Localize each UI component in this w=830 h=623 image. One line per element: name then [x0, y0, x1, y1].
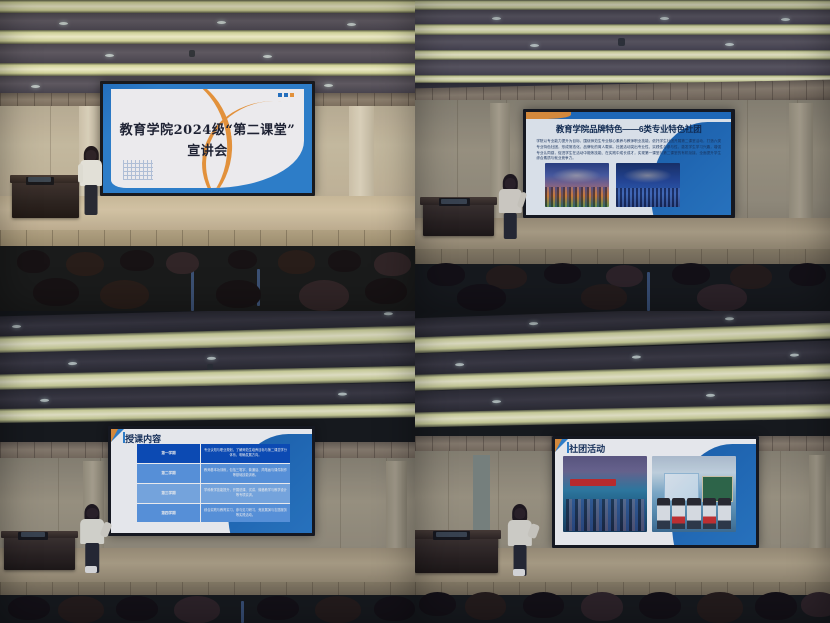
ceiling-spot-icon [492, 17, 501, 20]
ceiling-projector-icon [189, 50, 195, 57]
ceiling-spot-icon [706, 394, 715, 397]
ceiling-spot-icon [790, 354, 799, 357]
ceiling-light-strip [415, 50, 830, 60]
attendee-head [228, 250, 257, 269]
table-cell-term: 第二学期 [137, 464, 201, 483]
ceiling-spot-icon [725, 43, 734, 46]
ceiling-panel [0, 13, 415, 30]
ceiling-spot-icon [530, 322, 539, 325]
ceiling-light-strip [0, 0, 415, 13]
attendee-head [216, 280, 262, 308]
ceiling-spot-icon [31, 85, 40, 88]
red-banner [570, 479, 616, 486]
presenter [79, 146, 104, 214]
ceiling-spot-icon [324, 84, 333, 87]
attendee-head [730, 264, 772, 289]
ceiling-spot-icon [455, 363, 464, 366]
attendee-head [544, 263, 581, 284]
laptop-icon [18, 532, 48, 540]
slide-dots-decoration [278, 93, 294, 97]
ceiling-light-strip [415, 0, 830, 10]
slide-photo-1 [545, 163, 609, 206]
table-cell-term: 第四学期 [137, 504, 201, 523]
attendee-head [697, 592, 743, 623]
panel-bottom-right: 社团活动 [415, 311, 830, 623]
ceiling-spot-icon [632, 355, 641, 358]
slide-title: 社团活动 [569, 442, 605, 455]
ceiling-panel [415, 10, 830, 24]
ceiling-spot-icon [207, 357, 216, 360]
projection-screen: 教育学院2024级“第二课堂” 宣讲会 [100, 81, 316, 196]
slide-title: 教育学院品牌特色——6类专业特色社团 [534, 123, 723, 135]
slide-body-text: 学院以专业能力提升为目标，围绕师范生专业核心素养与教师职业技能，依托学生社团开展… [536, 139, 721, 161]
attendee-head [315, 596, 361, 623]
attendee-head [672, 263, 709, 285]
attendee-head [639, 592, 681, 619]
attendee-head [465, 592, 507, 620]
ceiling-spot-icon [12, 325, 21, 328]
attendee-head [365, 278, 407, 304]
podium [423, 202, 494, 236]
projection-screen: 教育学院品牌特色——6类专业特色社团 学院以专业能力提升为目标，围绕师范生专业核… [523, 109, 735, 218]
slide-corner-accent [111, 429, 118, 442]
panel-bottom-left: 授课内容 第一学期 专业认知与职业规划，了解师范生培养目标与第二课堂学分体系，明… [0, 311, 415, 623]
wall-pillar [789, 103, 814, 227]
ceiling-spot-icon [347, 23, 356, 26]
attendee-head [33, 278, 79, 306]
table-row: 第三学期 学科教学技能提升，开展说课、试讲、微格教学与教学设计等专项实训。 [137, 484, 290, 504]
ceiling-spot-icon [105, 54, 114, 57]
slide-photo-2 [652, 456, 736, 533]
attendee-head [523, 592, 565, 618]
attendee-head [100, 280, 150, 310]
award-students-row [657, 493, 731, 530]
podium [4, 536, 75, 570]
laptop-icon [433, 531, 470, 540]
table-row: 第一学期 专业认知与职业规划，了解师范生培养目标与第二课堂学分体系，明确发展方向… [137, 444, 290, 464]
attendee-head [120, 250, 153, 271]
presenter [79, 504, 106, 573]
attendee-head [374, 596, 416, 621]
attendee-head [755, 592, 797, 620]
course-table: 第一学期 专业认知与职业规划，了解师范生培养目标与第二课堂学分体系，明确发展方向… [137, 444, 290, 523]
attendee-head [789, 263, 826, 285]
attendee-head [697, 284, 747, 311]
table-row: 第二学期 教师基本功训练，包括三笔字、普通话、简笔画与课件制作等基础技能训练。 [137, 464, 290, 484]
projection-screen: 授课内容 第一学期 专业认知与职业规划，了解师范生培养目标与第二课堂学分体系，明… [108, 426, 316, 535]
attendee-head [299, 280, 349, 311]
laptop-icon [439, 198, 470, 206]
slide-photo-pair [545, 163, 680, 206]
podium [12, 180, 78, 217]
ceiling-spot-icon [660, 17, 669, 20]
ceiling-spot-icon [338, 393, 347, 396]
ceiling-panel [415, 60, 830, 75]
table-cell-term: 第三学期 [137, 484, 201, 503]
slide-title-line1: 教育学院2024级“第二课堂” [111, 119, 304, 138]
ceiling-spot-icon [263, 55, 272, 58]
attendee-head [581, 284, 627, 309]
slide-title-line2: 宣讲会 [111, 140, 304, 159]
podium [415, 536, 498, 573]
panel-top-left: 教育学院2024级“第二课堂” 宣讲会 [0, 0, 415, 311]
attendee-head [58, 596, 104, 623]
audience [0, 579, 415, 623]
attendee-head [457, 284, 507, 311]
panel-top-right: 教育学院品牌特色——6类专业特色社团 学院以专业能力提升为目标，围绕师范生专业核… [415, 0, 830, 311]
attendee-head [257, 596, 299, 620]
ceiling-light-strip [415, 24, 830, 35]
attendee-head [8, 596, 50, 620]
attendee-head [17, 250, 50, 273]
slide-photo-pair [563, 456, 736, 533]
attendee-head [116, 596, 158, 621]
audience [0, 224, 415, 311]
slide-course-content: 授课内容 第一学期 专业认知与职业规划，了解师范生培养目标与第二课堂学分体系，明… [111, 429, 312, 533]
ceiling-spot-icon [725, 317, 734, 320]
slide-opening-title: 教育学院2024级“第二课堂” 宣讲会 [103, 84, 312, 193]
ceiling-panel [0, 44, 415, 63]
audience [415, 236, 830, 311]
wall-pillar [809, 455, 826, 561]
ceiling-spot-icon [781, 18, 790, 21]
attendee-head [427, 263, 464, 285]
ceiling-spot-icon [40, 399, 49, 402]
aisle-rail [647, 272, 650, 311]
ceiling-light-strip [0, 30, 415, 44]
ceiling-panel [415, 35, 830, 50]
ceiling-spot-icon [492, 400, 501, 403]
attendee-head [328, 250, 361, 272]
table-cell-content: 教师基本功训练，包括三笔字、普通话、简笔画与课件制作等基础技能训练。 [201, 464, 290, 483]
presenter [506, 504, 533, 576]
attendee-head [278, 250, 315, 274]
ceiling-spot-icon [68, 362, 77, 365]
attendee-head [174, 596, 220, 623]
slide-club-activities: 社团活动 [555, 439, 756, 546]
ceiling-spot-icon [530, 44, 539, 47]
slide-corner-accent [555, 439, 562, 452]
table-cell-term: 第一学期 [137, 444, 201, 463]
attendee-head [374, 252, 411, 276]
slide-photo-1 [563, 456, 647, 533]
slide-photo-2 [616, 163, 680, 206]
table-row: 第四学期 综合实践与教育实习，参与见习研习、竞赛展演与志愿服务等实践活动。 [137, 504, 290, 523]
attendee-head [419, 592, 456, 616]
ceiling-light-strip [0, 63, 415, 76]
attendee-head [66, 252, 103, 276]
ceiling-spot-icon [59, 22, 68, 25]
table-cell-content: 综合实践与教育实习，参与见习研习、竞赛展演与志愿服务等实践活动。 [201, 504, 290, 523]
audience [415, 573, 830, 623]
slide-brand-features: 教育学院品牌特色——6类专业特色社团 学院以专业能力提升为目标，围绕师范生专业核… [526, 112, 731, 215]
ceiling-projector-icon [618, 38, 625, 46]
attendee-head [801, 592, 830, 617]
slide-hatch-decoration [123, 160, 153, 180]
laptop-icon [26, 177, 54, 185]
presenter [498, 174, 523, 239]
table-cell-content: 专业认知与职业规划，了解师范生培养目标与第二课堂学分体系，明确发展方向。 [201, 444, 290, 463]
ceiling-spot-icon [217, 21, 226, 24]
projection-screen: 社团活动 [552, 436, 760, 548]
attendee-head [581, 592, 623, 621]
ceiling-spot-icon [384, 312, 393, 315]
aisle-rail [241, 601, 244, 623]
photo-collage: 教育学院2024级“第二课堂” 宣讲会 [0, 0, 830, 623]
table-cell-content: 学科教学技能提升，开展说课、试讲、微格教学与教学设计等专项实训。 [201, 484, 290, 503]
attendee-head [166, 252, 199, 275]
